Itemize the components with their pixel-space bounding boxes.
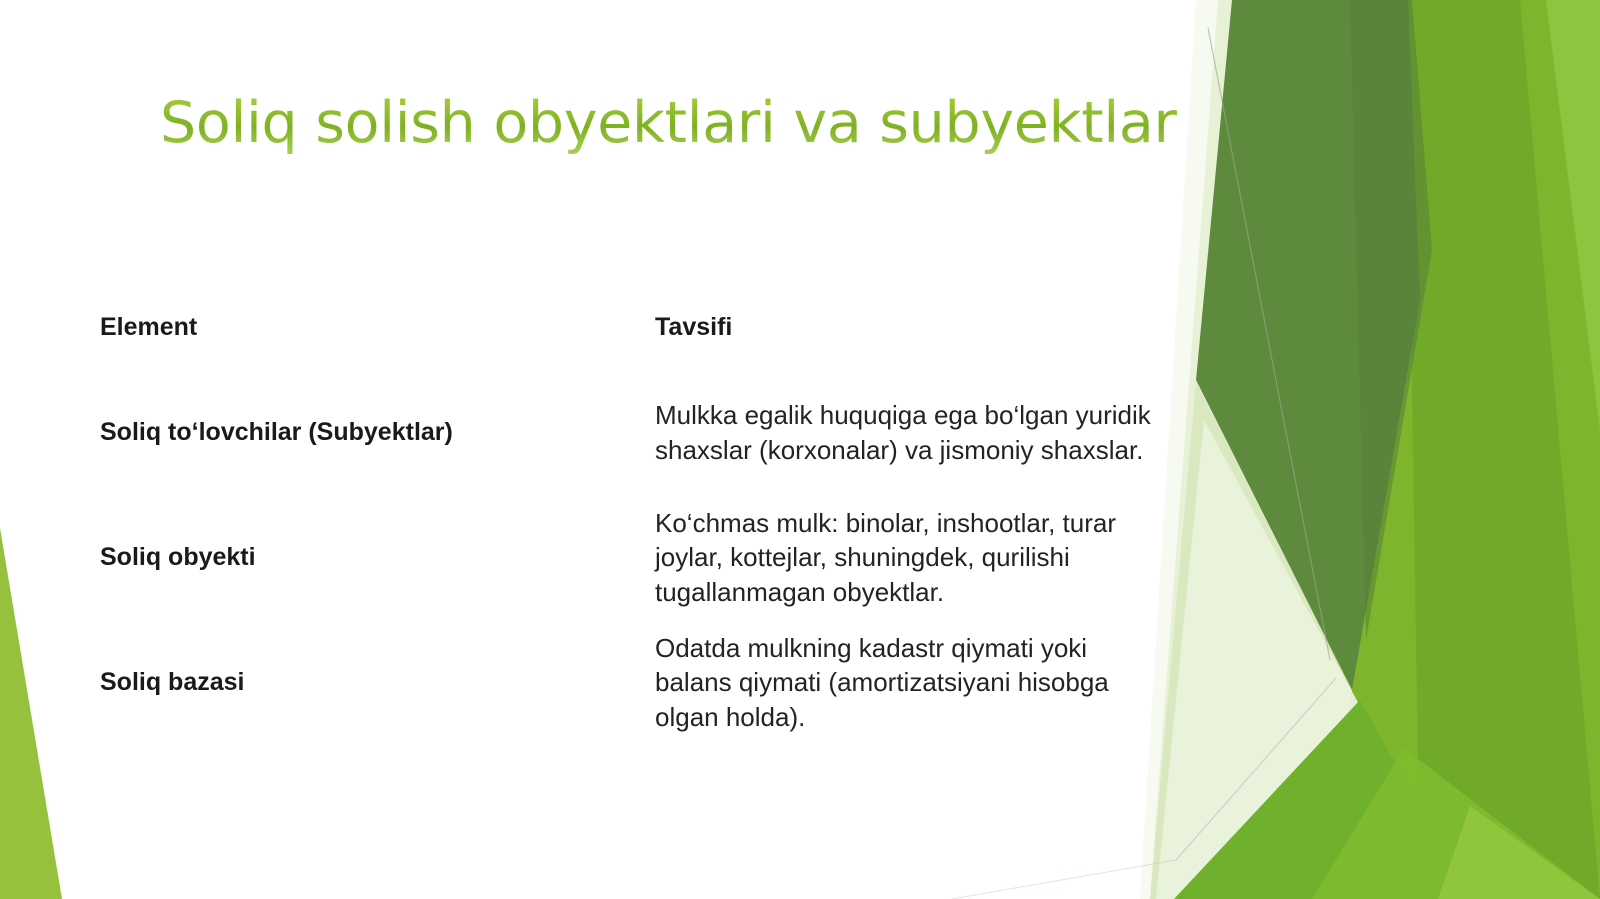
facet-lower-right-diagonal [1312, 748, 1600, 899]
table-header-row: Element Tavsifi [100, 312, 1170, 370]
column-header-element: Element [100, 312, 643, 343]
facet-bright-green-band [1330, 0, 1600, 899]
facet-pale-green-band [1150, 0, 1600, 899]
hairline-upper [1208, 28, 1330, 660]
hairline-tail [952, 860, 1176, 899]
table-row: Soliq obyekti Ko‘chmas mulk: binolar, in… [100, 495, 1170, 620]
facet-light-wash-triangle [1156, 420, 1360, 899]
table-cell-description: Odatda mulkning kadastr qiymati yoki bal… [655, 631, 1170, 735]
title-container: Soliq solish obyektlari va subyektlar [160, 78, 1160, 170]
row-description-text: Ko‘chmas mulk: binolar, inshootlar, tura… [655, 506, 1170, 610]
table-cell-element: Soliq obyekti [100, 541, 655, 574]
facet-lime-field [1296, 0, 1600, 899]
content-table: Element Tavsifi Soliq to‘lovchilar (Suby… [100, 312, 1170, 745]
row-description-text: Mulkka egalik huquqiga ega bo‘lgan yurid… [655, 398, 1170, 467]
hairline-lower [1176, 678, 1336, 860]
row-element-label: Soliq to‘lovchilar (Subyektlar) [100, 416, 643, 449]
row-element-label: Soliq obyekti [100, 541, 643, 574]
table-cell-description: Ko‘chmas mulk: binolar, inshootlar, tura… [655, 506, 1170, 610]
row-element-label: Soliq bazasi [100, 666, 643, 699]
row-description-text: Odatda mulkning kadastr qiymati yoki bal… [655, 631, 1170, 735]
facet-pale-sheet [1150, 382, 1352, 899]
table-cell-element: Soliq to‘lovchilar (Subyektlar) [100, 416, 655, 449]
facet-dark-olive-slab [1196, 0, 1420, 690]
facet-lower-diagonal-band [1174, 700, 1470, 899]
page-title: Soliq solish obyektlari va subyektlar [160, 94, 1177, 154]
facet-dark-olive-secondary [1350, 0, 1432, 640]
table-row: Soliq to‘lovchilar (Subyektlar) Mulkka e… [100, 370, 1170, 495]
facet-mid-green-column [1406, 0, 1600, 899]
facet-lime-corner [1438, 806, 1600, 899]
facet-pale-underlayer [1140, 0, 1600, 899]
presentation-slide: Soliq solish obyektlari va subyektlar El… [0, 0, 1600, 899]
table-cell-description: Mulkka egalik huquqiga ega bo‘lgan yurid… [655, 398, 1170, 467]
table-cell-element: Soliq bazasi [100, 666, 655, 699]
table-row: Soliq bazasi Odatda mulkning kadastr qiy… [100, 620, 1170, 745]
table-header-cell-element: Element [100, 312, 655, 343]
bottom-left-wedge [0, 528, 62, 899]
table-header-cell-description: Tavsifi [655, 312, 1170, 343]
column-header-description: Tavsifi [655, 312, 1170, 343]
